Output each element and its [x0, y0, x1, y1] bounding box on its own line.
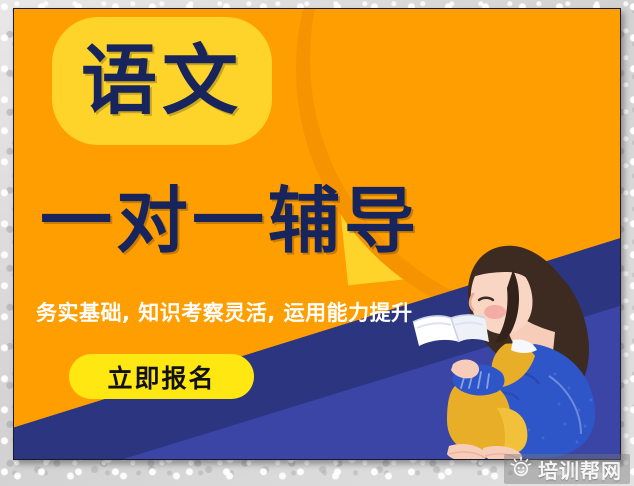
- seated-woman-reading-illustration: [409, 224, 621, 460]
- sun-face-icon: [510, 456, 532, 482]
- page-background: 语文 一对一辅导 务实基础, 知识考察灵活, 运用能力提升 立即报名: [0, 0, 634, 486]
- enroll-now-button[interactable]: 立即报名: [69, 354, 254, 399]
- subject-badge-label: 语文: [81, 43, 243, 119]
- banner-subtitle: 务实基础, 知识考察灵活, 运用能力提升: [36, 297, 413, 327]
- watermark-label: 培训帮网: [538, 455, 622, 484]
- promo-banner-card: 语文 一对一辅导 务实基础, 知识考察灵活, 运用能力提升 立即报名: [13, 8, 621, 460]
- page-title: 一对一辅导: [40, 185, 420, 257]
- subject-badge: 语文: [52, 17, 272, 145]
- enroll-now-button-label: 立即报名: [107, 359, 215, 395]
- watermark: 培训帮网: [504, 454, 630, 484]
